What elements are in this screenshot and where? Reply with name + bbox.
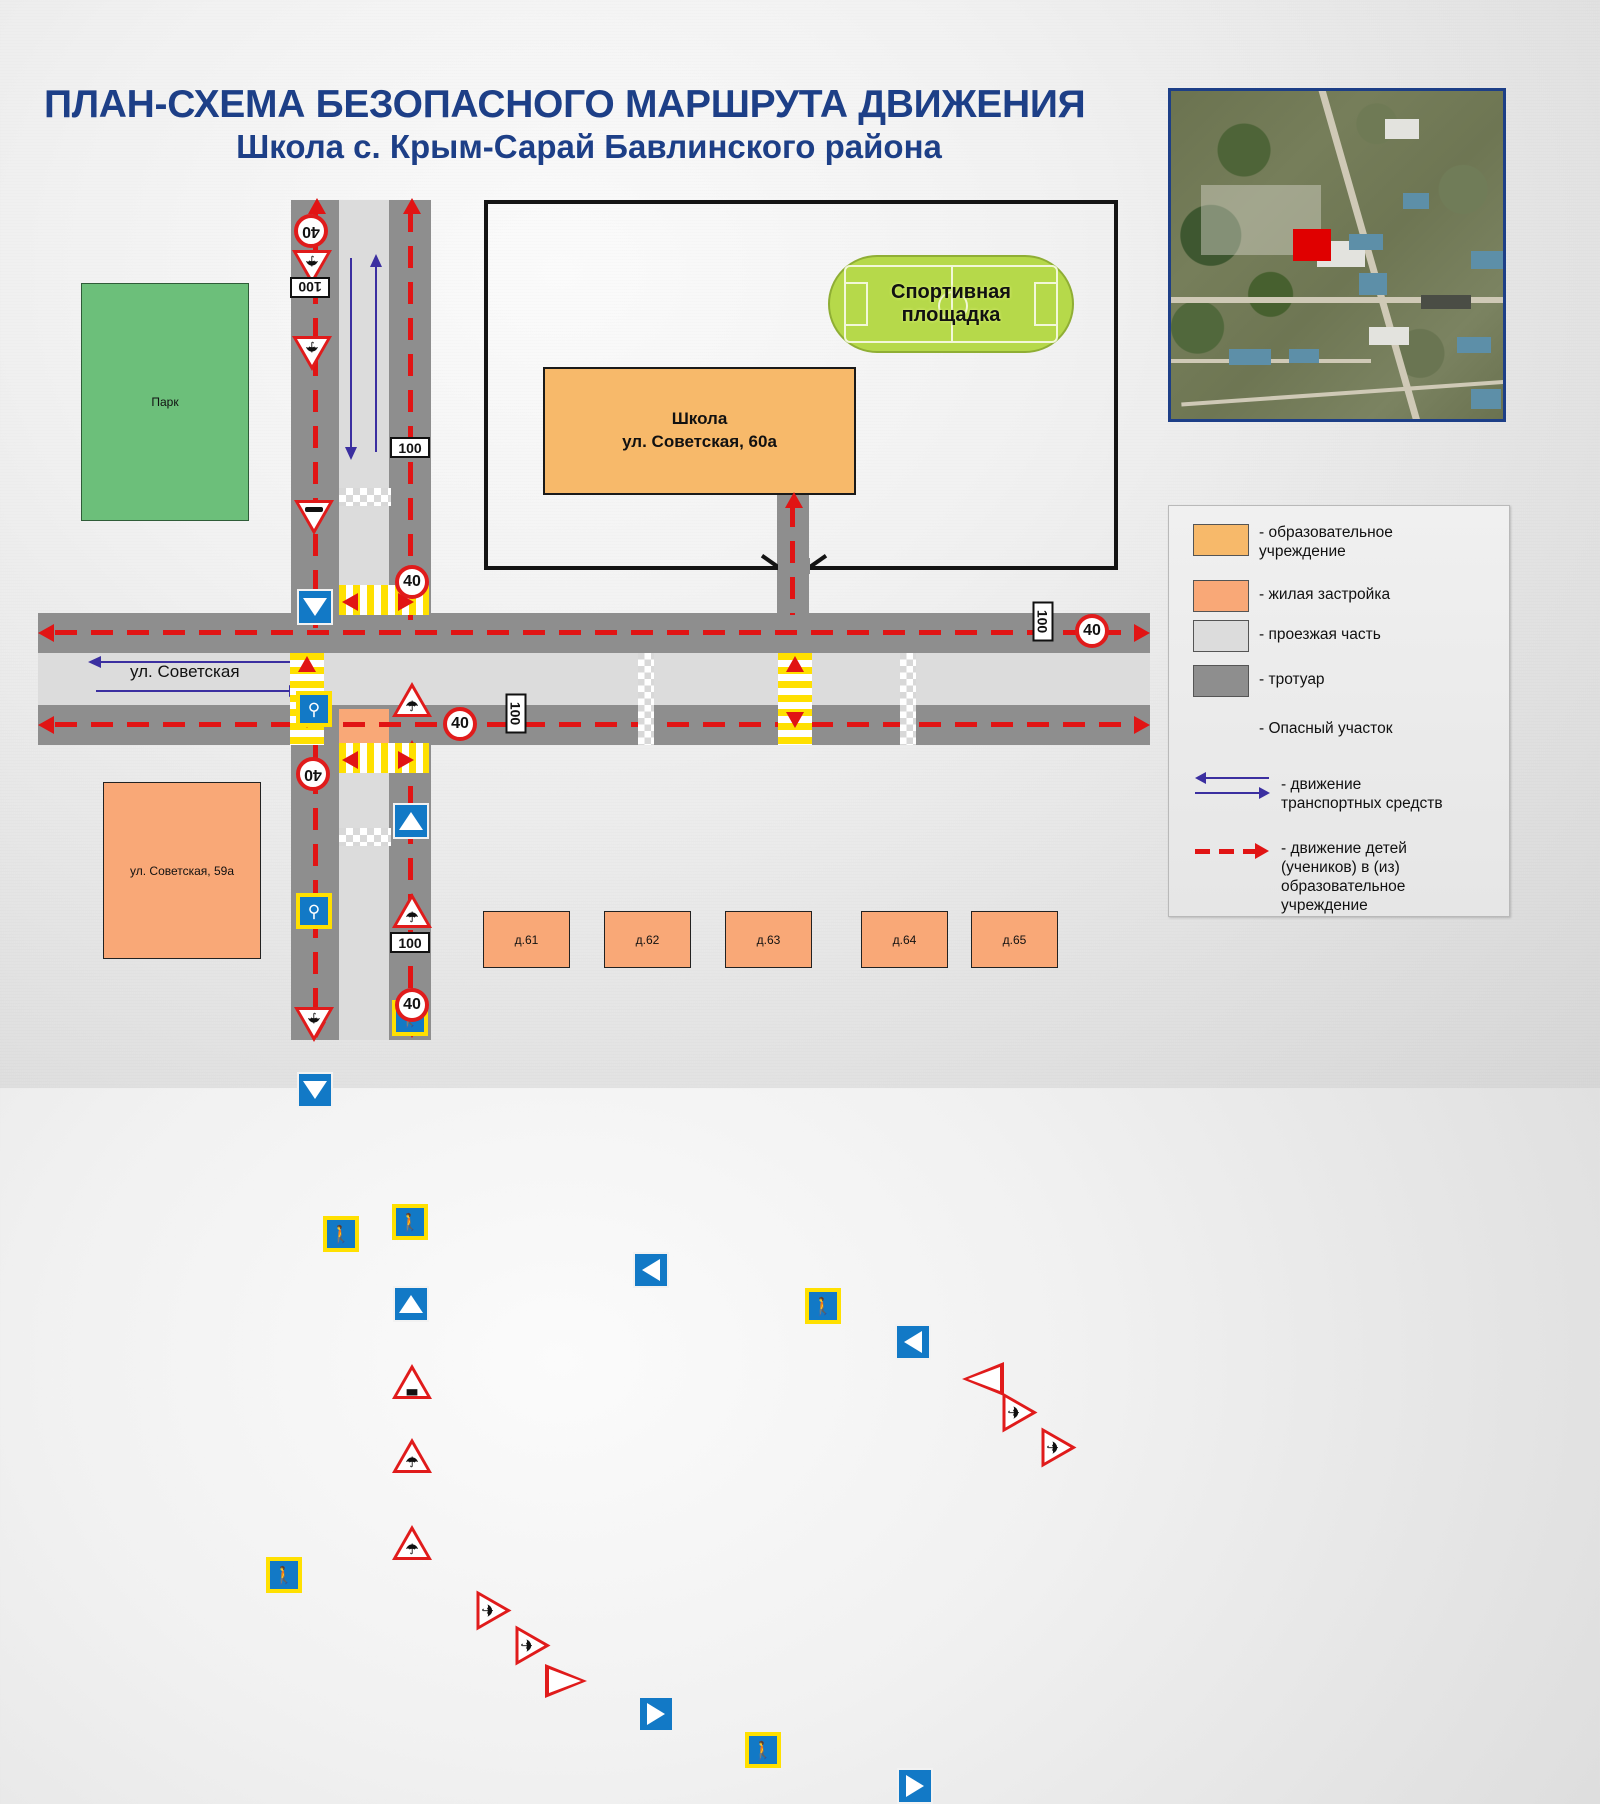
sign-pedestrian-crossing-blue bbox=[297, 589, 333, 625]
vehicle-arrow-down-head bbox=[345, 447, 357, 460]
legend-label-danger: - Опасный участок bbox=[1259, 718, 1392, 739]
school-name: Школа bbox=[622, 408, 777, 431]
route-arrow-right bbox=[1134, 716, 1150, 734]
crosswalk-arrow-up bbox=[786, 656, 804, 672]
sign-speed-limit-40: 40 bbox=[1075, 614, 1109, 648]
street-name-label: ул. Советская bbox=[130, 662, 240, 682]
aerial-roof bbox=[1229, 349, 1271, 365]
legend-item-vehicle: - движение транспортных средств bbox=[1193, 768, 1443, 814]
sign-bump-blue-left bbox=[633, 1252, 669, 1288]
crosswalk-arrow-down bbox=[786, 712, 804, 728]
sign-distance-plate-100: 100 bbox=[390, 932, 430, 953]
route-vertical-west-bottom bbox=[313, 700, 318, 1030]
sign-distance-plate-100-rotated: 100 bbox=[1033, 602, 1054, 642]
aerial-roof bbox=[1457, 337, 1491, 353]
vehicle-arrow-right-line bbox=[96, 690, 290, 692]
sign-distance-plate-100: 100 bbox=[290, 277, 330, 298]
legend-item-edu: - образовательное учреждение bbox=[1193, 524, 1393, 562]
vehicle-arrow-up-line bbox=[375, 264, 377, 452]
aerial-roof bbox=[1385, 119, 1419, 139]
aerial-road-lane bbox=[1171, 359, 1371, 363]
sign-children-warning: ☂ bbox=[392, 1525, 432, 1560]
legend-swatch-residential bbox=[1193, 580, 1249, 612]
sign-children-warning: ☂ bbox=[292, 336, 332, 371]
aerial-roof bbox=[1421, 295, 1471, 309]
location-marker bbox=[1293, 229, 1331, 261]
sign-pedestrian-crossing-blue bbox=[297, 1072, 333, 1108]
legend-label-edu: - образовательное учреждение bbox=[1259, 524, 1393, 562]
house-61: д.61 bbox=[483, 911, 570, 968]
sign-bump-warning-rotated bbox=[545, 1664, 587, 1698]
legend-item-residential: - жилая застройка bbox=[1193, 580, 1390, 612]
title-main: ПЛАН-СХЕМА БЕЗОПАСНОГО МАРШРУТА ДВИЖЕНИЯ bbox=[44, 84, 1134, 125]
route-vertical-east-top bbox=[408, 210, 413, 620]
sign-children-warning-rotated: ☂ bbox=[516, 1626, 551, 1666]
legend-label-children: - движение детей (учеников) в (из) образ… bbox=[1281, 836, 1407, 916]
sign-children-warning: ☂ bbox=[294, 1007, 334, 1042]
vehicle-arrow-left-head bbox=[88, 656, 101, 668]
legend-item-danger: - Опасный участок bbox=[1193, 718, 1392, 750]
sign-children-warning-rotated: ☂ bbox=[477, 1591, 512, 1631]
route-arrow-right bbox=[1134, 624, 1150, 642]
route-arrow-up bbox=[308, 198, 326, 214]
sign-children-warning: ☂ bbox=[392, 682, 432, 717]
sign-pedestrian-crossing-yellow: 🚶 bbox=[392, 1204, 428, 1240]
ped-strip-mid bbox=[638, 653, 654, 745]
school-address: ул. Советская, 60а bbox=[622, 431, 777, 454]
sign-pedestrian-crossing-yellow: ⚲ bbox=[296, 893, 332, 929]
page-title: ПЛАН-СХЕМА БЕЗОПАСНОГО МАРШРУТА ДВИЖЕНИЯ… bbox=[44, 84, 1134, 166]
sign-children-warning: ☂ bbox=[392, 1438, 432, 1473]
legend-item-roadway: - проезжая часть bbox=[1193, 620, 1381, 652]
aerial-roof bbox=[1403, 193, 1429, 209]
house-62: д.62 bbox=[604, 911, 691, 968]
sign-speed-limit-40: 40 bbox=[296, 757, 330, 791]
house-63: д.63 bbox=[725, 911, 812, 968]
sign-give-way bbox=[294, 500, 334, 535]
legend-swatch-edu bbox=[1193, 524, 1249, 556]
sign-bump-warning: ▃ bbox=[392, 1364, 432, 1399]
residential-block-59a: ул. Советская, 59а bbox=[103, 782, 261, 959]
legend-swatch-danger bbox=[1193, 718, 1249, 750]
satellite-inset bbox=[1168, 88, 1506, 422]
sign-pedestrian-crossing-yellow: 🚶 bbox=[745, 1732, 781, 1768]
goal-box-left bbox=[844, 282, 868, 326]
sign-bump-blue-right bbox=[638, 1696, 674, 1732]
sign-speed-limit-40: 40 bbox=[395, 565, 429, 599]
route-arrow-left bbox=[38, 716, 54, 734]
aerial-roof bbox=[1369, 327, 1409, 345]
ped-strip-upper bbox=[339, 488, 391, 506]
house-label: д.63 bbox=[757, 933, 781, 947]
sign-bump-warning-rotated bbox=[962, 1362, 1004, 1396]
sport-line2: площадка bbox=[891, 304, 1011, 327]
sign-children-warning-rotated: ☂ bbox=[1003, 1393, 1038, 1433]
house-label: д.62 bbox=[636, 933, 660, 947]
crosswalk-arrow-up bbox=[298, 656, 316, 672]
sign-speed-limit-40: 40 bbox=[395, 988, 429, 1022]
aerial-roof bbox=[1471, 251, 1506, 269]
park-label: Парк bbox=[151, 395, 178, 409]
sign-speed-limit-40: 40 bbox=[294, 214, 328, 248]
sign-bump-blue-right bbox=[897, 1768, 933, 1804]
vehicle-arrow-down-line bbox=[350, 258, 352, 450]
legend-swatch-sidewalk bbox=[1193, 665, 1249, 697]
sign-distance-plate-100-rotated: 100 bbox=[506, 694, 527, 734]
legend-vehicle-arrows bbox=[1193, 768, 1271, 802]
legend-label-roadway: - проезжая часть bbox=[1259, 620, 1381, 645]
route-arrow-up bbox=[403, 198, 421, 214]
residential-label: ул. Советская, 59а bbox=[130, 864, 234, 878]
route-arrow-up bbox=[785, 492, 803, 508]
house-65: д.65 bbox=[971, 911, 1058, 968]
vehicle-arrow-up-head bbox=[370, 254, 382, 267]
house-label: д.65 bbox=[1003, 933, 1027, 947]
legend-item-sidewalk: - тротуар bbox=[1193, 665, 1325, 697]
legend-label-vehicle: - движение транспортных средств bbox=[1281, 768, 1443, 814]
aerial-roof bbox=[1289, 349, 1319, 363]
route-driveway bbox=[790, 505, 795, 615]
park-block: Парк bbox=[81, 283, 249, 521]
route-horizontal-south bbox=[55, 722, 1135, 727]
legend-item-children: - движение детей (учеников) в (из) образ… bbox=[1193, 836, 1407, 916]
ped-strip-east bbox=[900, 653, 916, 745]
house-label: д.64 bbox=[893, 933, 917, 947]
legend-panel: - образовательное учреждение - жилая зас… bbox=[1168, 505, 1510, 917]
route-arrow-left bbox=[38, 624, 54, 642]
legend-label-residential: - жилая застройка bbox=[1259, 580, 1390, 605]
sign-artificial-bump-blue bbox=[393, 1286, 429, 1322]
sport-label: Спортивная площадка bbox=[891, 281, 1011, 327]
legend-label-sidewalk: - тротуар bbox=[1259, 665, 1325, 690]
crosswalk-arrow-left bbox=[342, 593, 358, 611]
aerial-roof bbox=[1359, 273, 1387, 295]
crosswalk-arrow-left bbox=[342, 751, 358, 769]
title-subtitle: Школа с. Крым-Сарай Бавлинского района bbox=[44, 129, 1134, 166]
sign-pedestrian-crossing-yellow: ⚲ bbox=[296, 691, 332, 727]
sign-bump-blue-left bbox=[895, 1324, 931, 1360]
aerial-roof bbox=[1349, 234, 1383, 250]
sign-children-warning-rotated: ☂ bbox=[1042, 1428, 1077, 1468]
sign-pedestrian-crossing-yellow: 🚶 bbox=[323, 1216, 359, 1252]
house-64: д.64 bbox=[861, 911, 948, 968]
sport-field: Спортивная площадка bbox=[828, 255, 1074, 353]
school-building: Школа ул. Советская, 60а bbox=[543, 367, 856, 495]
sign-children-warning: ☂ bbox=[392, 893, 432, 928]
legend-swatch-roadway bbox=[1193, 620, 1249, 652]
sport-line1: Спортивная bbox=[891, 281, 1011, 304]
ped-strip-lower bbox=[339, 828, 391, 846]
aerial-roof bbox=[1471, 389, 1501, 409]
route-horizontal-north bbox=[55, 630, 1135, 635]
goal-box-right bbox=[1034, 282, 1058, 326]
house-label: д.61 bbox=[515, 933, 539, 947]
sign-speed-limit-40: 40 bbox=[443, 707, 477, 741]
sign-distance-plate-100: 100 bbox=[390, 437, 430, 458]
sign-pedestrian-crossing-yellow: 🚶 bbox=[805, 1288, 841, 1324]
sign-artificial-bump-blue bbox=[393, 803, 429, 839]
crosswalk-arrow-right bbox=[398, 751, 414, 769]
sign-pedestrian-crossing-yellow: 🚶 bbox=[266, 1557, 302, 1593]
legend-children-arrow bbox=[1193, 836, 1271, 870]
